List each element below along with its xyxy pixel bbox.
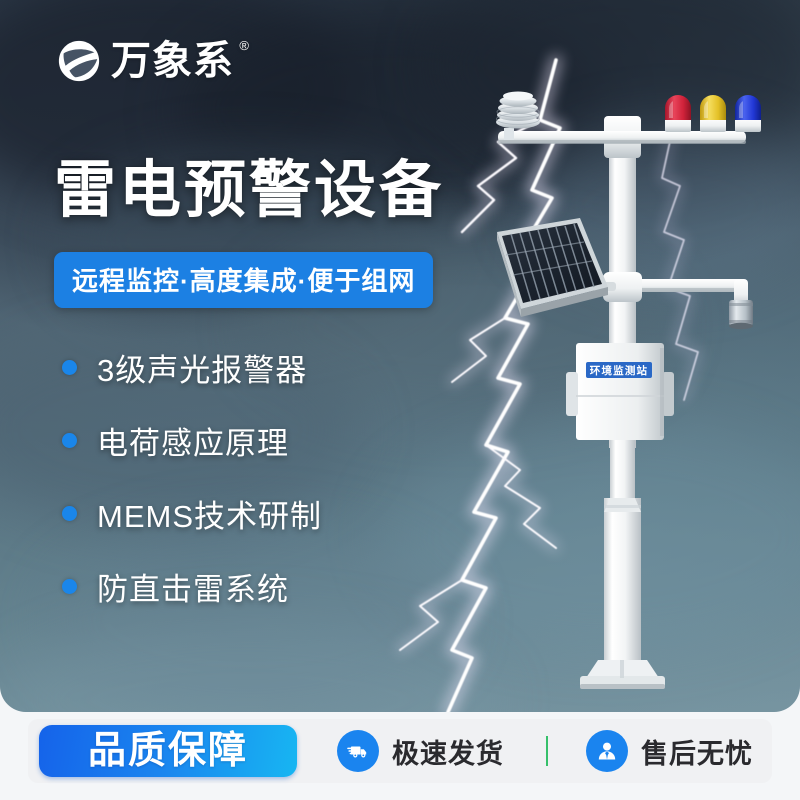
three-stage-alarm-beacon	[665, 95, 761, 132]
list-item: 防直击雷系统	[62, 564, 322, 609]
blue-dot-icon	[62, 433, 77, 448]
quality-badge-label: 品质保障	[88, 732, 248, 770]
trust-item-service: 售后无忧	[586, 730, 753, 772]
trust-item-label: 极速发货	[392, 732, 504, 771]
brand-name-wrap: 万象系 ®	[111, 41, 234, 81]
blue-alarm-light	[735, 95, 761, 120]
blue-dot-icon	[62, 579, 77, 594]
product-poster: 环境监测站 万象系 ®	[0, 0, 800, 800]
brand-logo: 万象系 ®	[56, 38, 234, 84]
solar-panel	[497, 218, 616, 317]
pole-lower	[604, 498, 641, 666]
yellow-alarm-light	[700, 95, 726, 120]
base-plate	[580, 660, 665, 689]
red-light-base	[665, 118, 691, 132]
swoosh-sphere-icon	[56, 38, 102, 84]
red-alarm-light	[665, 95, 691, 120]
list-item: MEMS技术研制	[62, 491, 322, 536]
feature-label: MEMS技术研制	[97, 491, 322, 536]
trust-bar: 品质保障 极速发货	[28, 719, 772, 783]
trust-item-label: 售后无忧	[641, 732, 753, 771]
trademark-symbol: ®	[239, 39, 250, 52]
pole-mid	[610, 440, 635, 500]
trust-item-shipping: 极速发货	[337, 730, 504, 772]
quality-badge: 品质保障	[39, 725, 297, 777]
blue-dot-icon	[62, 360, 77, 375]
feature-list: 3级声光报警器 电荷感应原理 MEMS技术研制 防直击雷系统	[62, 345, 322, 609]
page-title: 雷电预警设备	[54, 158, 444, 225]
feature-label: 3级声光报警器	[97, 345, 307, 390]
brand-name: 万象系	[111, 39, 234, 83]
blue-dot-icon	[62, 506, 77, 521]
control-box-label-text: 环境监测站	[590, 364, 649, 377]
rain-light-sensor	[729, 300, 753, 329]
feature-label: 防直击雷系统	[97, 564, 289, 609]
yellow-light-base	[700, 118, 726, 132]
list-item: 电荷感应原理	[62, 418, 322, 463]
support-person-icon	[586, 730, 628, 772]
feature-label: 电荷感应原理	[97, 418, 289, 463]
blue-light-base	[735, 118, 761, 132]
list-item: 3级声光报警器	[62, 345, 322, 390]
trust-bar-divider	[546, 736, 548, 766]
delivery-truck-icon	[337, 730, 379, 772]
subtitle-banner: 远程监控·高度集成·便于组网	[54, 252, 433, 308]
control-box: 环境监测站	[566, 343, 674, 440]
